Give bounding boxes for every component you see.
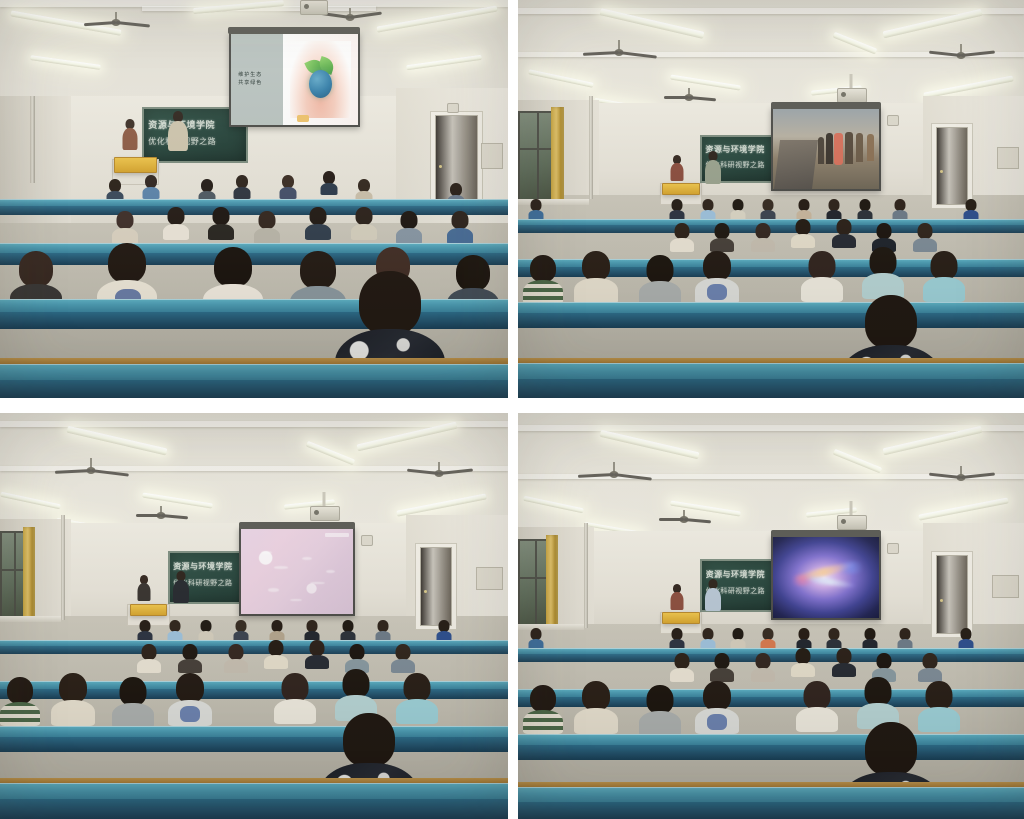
desk-row-foreground — [518, 358, 1024, 398]
slide-footer-mark — [297, 115, 310, 121]
yellow-podium — [662, 183, 699, 195]
window-sill — [0, 616, 61, 622]
wall-notice-panel — [481, 143, 503, 169]
ceiling-fan — [401, 462, 477, 482]
host-person — [137, 575, 151, 601]
host-person — [670, 584, 684, 610]
ceiling-projector — [300, 0, 326, 13]
desk-row-foreground — [0, 358, 508, 398]
presenter-person — [705, 151, 721, 183]
ceiling-fan — [81, 12, 151, 30]
ceiling-fan — [660, 88, 718, 104]
ceiling-projector — [310, 506, 338, 519]
slide-pink-texture — [241, 529, 353, 614]
ceiling-beam — [518, 425, 1024, 431]
wall-notice-panel — [476, 567, 503, 589]
desk-row — [0, 726, 508, 752]
projection-screen: 维护生态 共享绿色 — [229, 32, 360, 128]
slide-hands-globe: 维护生态 共享绿色 — [231, 34, 358, 126]
photo-bottom-left[interactable]: 资源与环境学院 优化科研视野之路 — [0, 413, 508, 819]
slide-heading-1: 维护生态 — [238, 72, 262, 80]
crowd-figure — [818, 137, 824, 164]
ceiling-projector — [837, 515, 865, 528]
presenter-person — [168, 111, 188, 151]
classroom-door[interactable] — [936, 127, 968, 205]
photo-collage: 资源与环境学院 优化科研视野之路 维护生态 共享绿色 — [0, 0, 1024, 819]
ceiling-fan — [132, 506, 190, 522]
photo-bottom-right[interactable]: 资源与环境学院 优化科研视野之路 — [518, 413, 1024, 819]
ceiling-fan — [574, 462, 654, 482]
ceiling-fan — [51, 458, 131, 478]
projection-screen — [771, 107, 881, 191]
wall-speaker — [887, 115, 899, 126]
crowd-figure — [826, 133, 832, 163]
wall-notice-panel — [992, 575, 1019, 597]
desk-row — [518, 734, 1024, 760]
host-person — [122, 119, 138, 151]
ceiling-fan — [923, 466, 999, 486]
classroom-door[interactable] — [936, 555, 968, 634]
crowd-figure — [867, 134, 874, 161]
crowd-figure — [856, 133, 863, 162]
ceiling-beam — [518, 8, 1024, 14]
gold-curtain — [23, 527, 35, 620]
crowd-figure-red — [834, 133, 844, 165]
ceiling-projector — [837, 88, 865, 101]
road-area — [774, 140, 818, 189]
screen-roller — [239, 522, 355, 529]
wall-pipe — [61, 515, 65, 621]
slide-heading-2: 共享绿色 — [238, 80, 262, 88]
screen-roller — [228, 27, 360, 34]
classroom-door[interactable] — [420, 547, 452, 626]
globe-icon — [309, 70, 332, 97]
blackboard-line-2: 优化科研视野之路 — [148, 136, 241, 147]
gold-curtain — [551, 107, 564, 203]
ceiling-fan — [579, 40, 659, 60]
wall-speaker — [361, 535, 373, 546]
slide-outdoor-crowd — [773, 109, 879, 189]
wall-pipe — [30, 96, 35, 184]
projection-screen — [771, 535, 881, 620]
desk-row-foreground — [518, 782, 1024, 819]
photo-top-right[interactable]: 资源与环境学院 优化科研视野之路 — [518, 0, 1024, 398]
wall-notice-panel — [997, 147, 1019, 169]
presenter-person — [705, 579, 721, 610]
crowd-figure — [845, 132, 852, 164]
wall-speaker — [887, 543, 899, 554]
ceiling-fan — [655, 510, 713, 526]
screen-roller — [771, 530, 882, 537]
slide-watermark — [325, 533, 350, 537]
yellow-podium — [662, 612, 699, 625]
photo-top-left[interactable]: 资源与环境学院 优化科研视野之路 维护生态 共享绿色 — [0, 0, 508, 398]
desk-row — [0, 640, 508, 654]
wall-speaker — [447, 103, 459, 113]
presenter-person — [173, 571, 189, 602]
host-person — [670, 155, 684, 181]
screen-roller — [771, 102, 882, 109]
wall-pipe — [589, 96, 593, 199]
projection-screen — [239, 527, 355, 616]
ceiling-fan — [923, 44, 999, 64]
desk-row — [518, 302, 1024, 328]
yellow-podium — [114, 157, 157, 173]
desk-row-foreground — [0, 778, 508, 819]
slide-nebula — [773, 537, 879, 618]
wall-pipe — [584, 523, 588, 629]
gold-curtain — [546, 535, 558, 628]
yellow-podium — [130, 604, 168, 617]
